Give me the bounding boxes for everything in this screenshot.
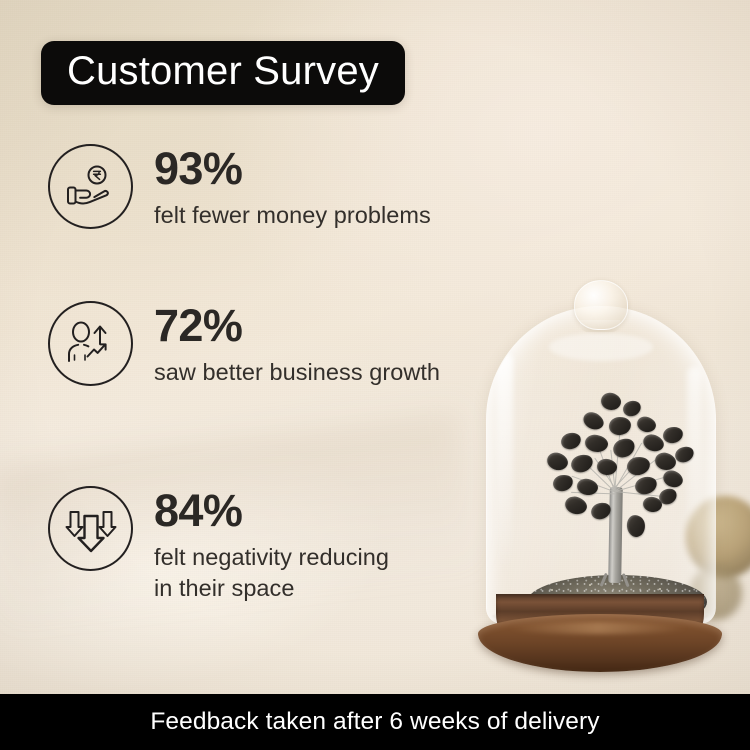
dome-knob: [574, 280, 628, 330]
stat-percent: 93%: [154, 146, 431, 191]
customer-survey-poster: Customer Survey 93% felt fewer money pro…: [0, 0, 750, 750]
footer-text: Feedback taken after 6 weeks of delivery: [150, 708, 599, 736]
glass-highlight-left: [497, 353, 513, 573]
stat-item: 93% felt fewer money problems: [48, 144, 431, 231]
wooden-base-highlight: [508, 622, 688, 634]
stat-body: 93% felt fewer money problems: [154, 144, 431, 231]
footer-bar: Feedback taken after 6 weeks of delivery: [0, 694, 750, 750]
stat-percent: 84%: [154, 488, 404, 533]
stat-body: 84% felt negativity reducing in their sp…: [154, 486, 404, 603]
glass-dome: [486, 306, 716, 624]
stat-item: 84% felt negativity reducing in their sp…: [48, 486, 404, 603]
three-down-arrows-icon: [48, 486, 133, 571]
stat-label: felt negativity reducing in their space: [154, 542, 404, 603]
tree-trunk: [608, 487, 623, 583]
page-title: Customer Survey: [67, 51, 379, 91]
stat-label: saw better business growth: [154, 357, 440, 388]
page-title-badge: Customer Survey: [41, 41, 405, 105]
product-photo-gemstone-tree-dome: [470, 278, 730, 682]
person-growth-arrow-icon: [48, 301, 133, 386]
stat-body: 72% saw better business growth: [154, 301, 440, 388]
stat-percent: 72%: [154, 303, 440, 348]
hand-holding-rupee-coin-icon: [48, 144, 133, 229]
stat-label: felt fewer money problems: [154, 200, 431, 231]
glass-top-reflection: [549, 333, 653, 361]
stat-item: 72% saw better business growth: [48, 301, 440, 388]
gemstone-tree: [539, 391, 699, 597]
